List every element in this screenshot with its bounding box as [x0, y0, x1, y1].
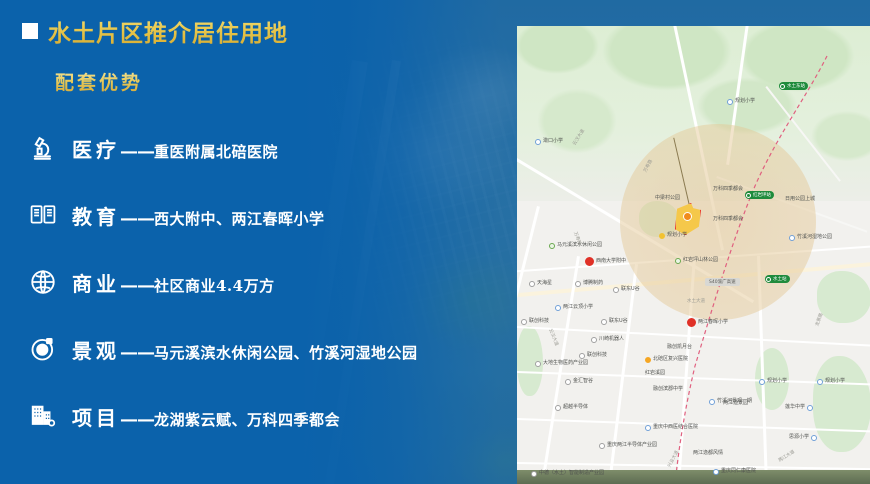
subtitle-text: 配套优势 [55, 68, 143, 95]
list-item-medical: 医疗——重医附属北碚医院 [28, 128, 498, 168]
item-dash: —— [120, 275, 154, 296]
location-map[interactable]: S40渝广高速 澉口小学规划小学中梁村公园万科四季都会万科四季都会日用公园上城马… [517, 26, 870, 484]
map-road-label: 云汉大道 [571, 128, 586, 146]
globe-icon [28, 267, 58, 297]
camera-lens-icon [28, 334, 58, 364]
item-value: 西大附中、两江春晖小学 [154, 210, 325, 228]
item-dash: —— [120, 208, 154, 229]
map-road-label: 两江大道 [777, 449, 795, 464]
item-dash: —— [120, 342, 154, 363]
item-category: 项目 [72, 406, 120, 430]
item-value: 马元溪滨水休闲公园、竹溪河湿地公园 [154, 344, 418, 362]
list-item-landscape: 景观——马元溪滨水休闲公园、竹溪河湿地公园 [28, 329, 498, 369]
map-road-label: 万寿路 [642, 159, 654, 174]
map-road-label-layer: 云汉大道万寿路万寿路云汉大道水土大道龙景路兴业大道两江大道 [517, 26, 870, 484]
open-book-icon [28, 200, 58, 230]
item-dash: —— [120, 409, 154, 430]
item-category: 医疗 [72, 138, 120, 162]
map-road-label: 云汉大道 [547, 328, 559, 347]
slide-root: 水土片区推介居住用地 配套优势 医疗——重医附属北碚医院 [0, 0, 870, 484]
list-item-project: 项目——龙湖紫云赋、万科四季都会 [28, 396, 498, 436]
item-category: 景观 [72, 339, 120, 363]
item-category: 教育 [72, 205, 120, 229]
item-value: 重医附属北碚医院 [154, 143, 278, 161]
item-dash: —— [120, 141, 154, 162]
list-item-commerce: 商业——社区商业4.4万方 [28, 262, 498, 302]
bullet-square-icon [22, 23, 38, 39]
map-road-label: 水土大道 [687, 298, 705, 304]
page-title: 水土片区推介居住用地 [22, 14, 288, 48]
item-value: 社区商业4.4万方 [154, 277, 275, 295]
list-item-education: 教育——西大附中、两江春晖小学 [28, 195, 498, 235]
building-icon [28, 401, 58, 431]
map-road-label: 兴业大道 [666, 450, 680, 469]
item-category: 商业 [72, 272, 120, 296]
title-text: 水土片区推介居住用地 [48, 14, 288, 48]
map-road-label: 万寿路 [572, 231, 582, 246]
microscope-icon [28, 133, 58, 163]
map-road-label: 龙景路 [814, 312, 824, 327]
item-value: 龙湖紫云赋、万科四季都会 [154, 411, 340, 429]
advantages-list: 医疗——重医附属北碚医院 教育——西大附中、两江春晖小学 [28, 128, 498, 463]
